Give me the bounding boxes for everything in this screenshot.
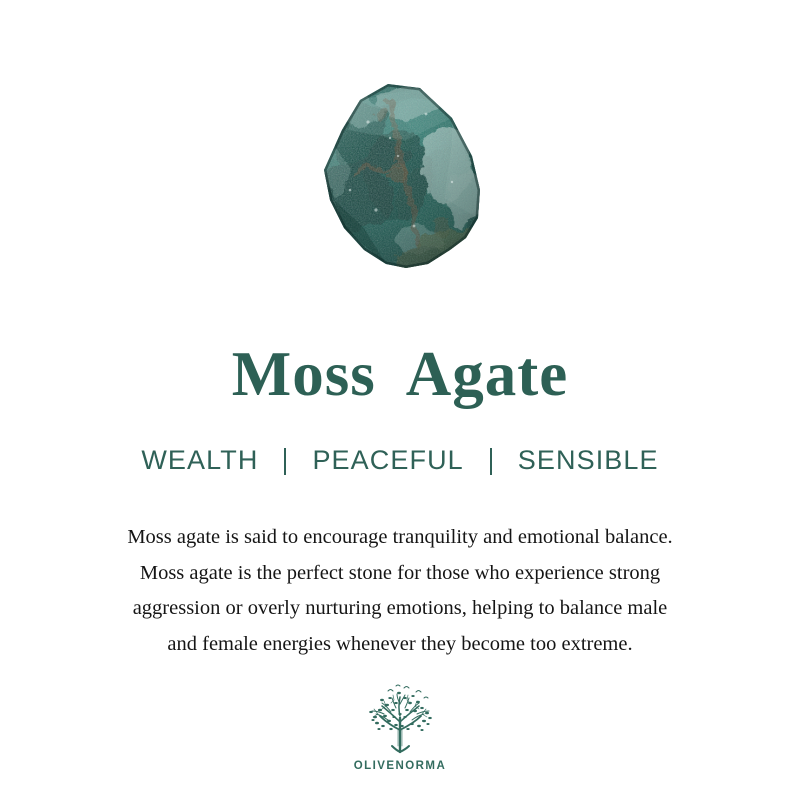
keyword-separator-1: [284, 448, 286, 475]
keyword-peaceful: PEACEFUL: [312, 446, 463, 476]
keyword-wealth: WEALTH: [141, 446, 258, 476]
description-block: Moss agate is said to encourage tranquil…: [0, 520, 800, 662]
keyword-separator-2: [490, 448, 492, 475]
olive-tree-icon: [358, 684, 442, 756]
moss-agate-stone-graphic: [302, 78, 498, 274]
brand-logo: OLIVENORMA: [335, 684, 465, 772]
product-title: Moss Agate: [0, 341, 800, 407]
moss-agate-stone-image: [302, 78, 498, 274]
description-line-3: aggression or overly nurturing emotions,…: [0, 591, 800, 627]
description-line-4: and female energies whenever they become…: [0, 627, 800, 663]
product-info-card: Moss Agate WEALTH PEACEFUL SENSIBLE Moss…: [0, 0, 800, 800]
description-line-2: Moss agate is the perfect stone for thos…: [0, 556, 800, 592]
keyword-sensible: SENSIBLE: [518, 446, 659, 476]
description-line-1: Moss agate is said to encourage tranquil…: [0, 520, 800, 556]
brand-name: OLIVENORMA: [354, 760, 446, 772]
keyword-list: WEALTH PEACEFUL SENSIBLE: [0, 446, 800, 476]
